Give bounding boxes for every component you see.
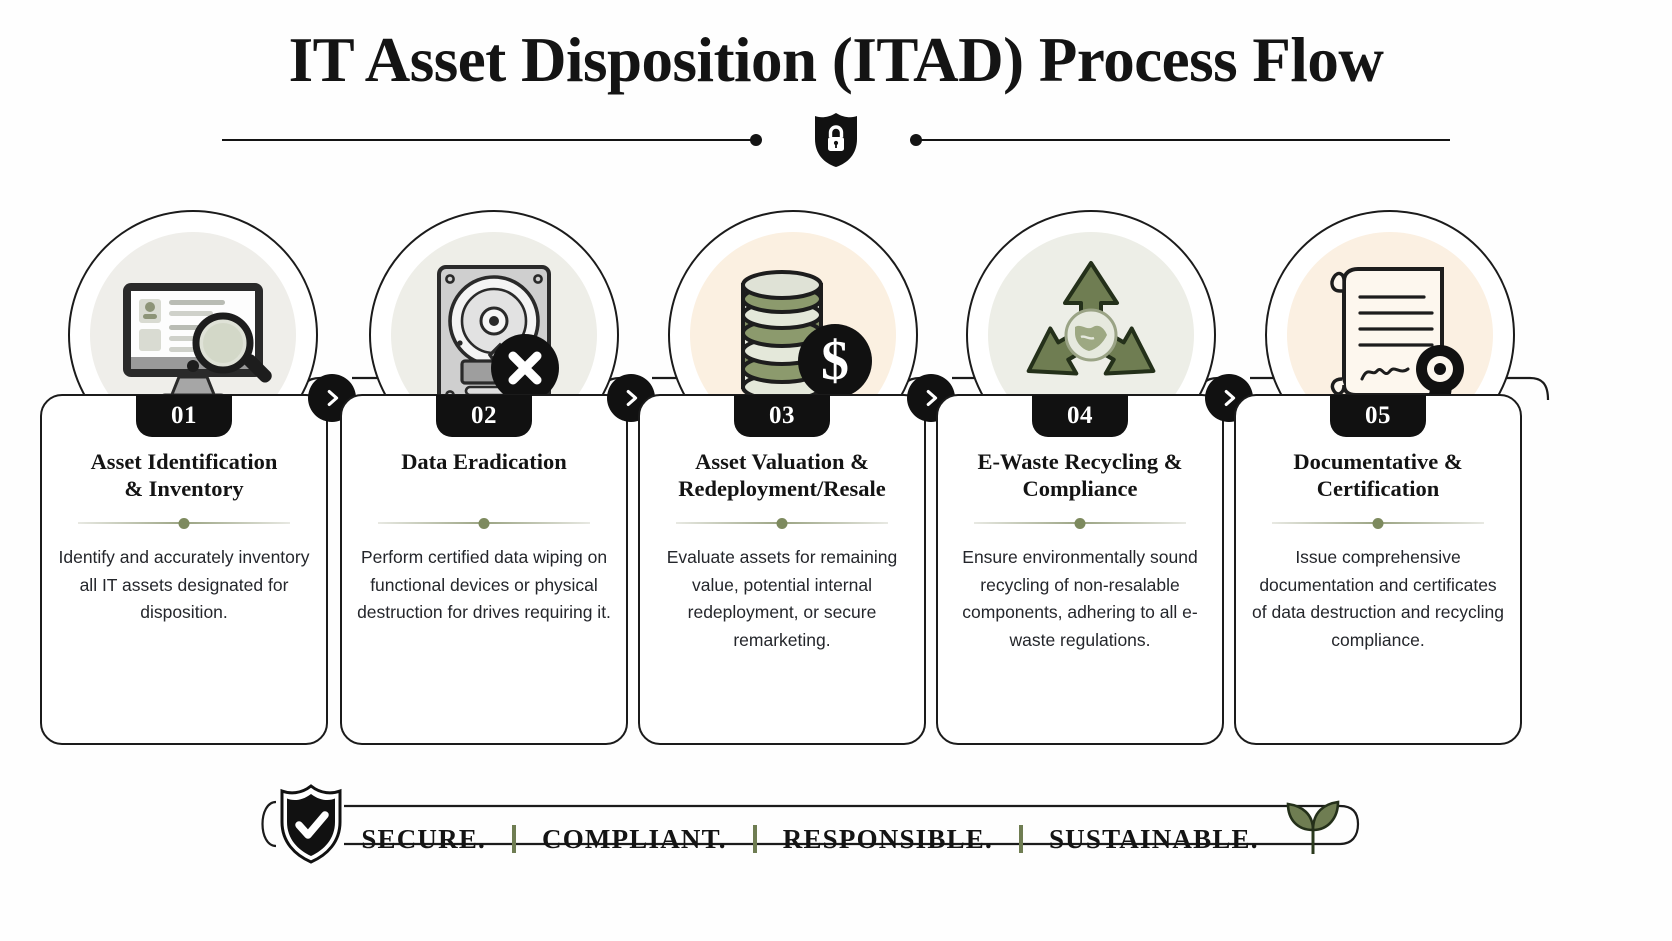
step-title-2: Data Eradication <box>356 448 612 504</box>
step-number-badge-1: 01 <box>136 395 232 437</box>
step-card-2[interactable]: 02 Data Eradication Perform certified da… <box>340 394 628 745</box>
tagline-secure: SECURE. <box>335 824 512 855</box>
shield-check-icon <box>278 784 344 864</box>
footer-banner: SECURE. COMPLIANT. RESPONSIBLE. SUSTAINA… <box>248 784 1368 864</box>
tagline-sustainable: SUSTAINABLE. <box>1023 824 1285 855</box>
step-divider-5 <box>1272 518 1484 528</box>
divider-dot-5 <box>1373 518 1384 529</box>
step-title-4: E-Waste Recycling & Compliance <box>952 448 1208 504</box>
step-divider-2 <box>378 518 590 528</box>
step-card-3[interactable]: 03 Asset Valuation & Redeployment/Resale… <box>638 394 926 745</box>
step-divider-1 <box>78 518 290 528</box>
divider-dot-1 <box>179 518 190 529</box>
step-title-line2-4: Compliance <box>1023 476 1138 501</box>
step-card-4[interactable]: 04 E-Waste Recycling & Compliance Ensure… <box>936 394 1224 745</box>
step-number-badge-3: 03 <box>734 395 830 437</box>
step-title-3: Asset Valuation & Redeployment/Resale <box>654 448 910 504</box>
step-description-3: Evaluate assets for remaining value, pot… <box>654 544 910 655</box>
step-description-4: Ensure environmentally sound recycling o… <box>952 544 1208 655</box>
step-card-5[interactable]: 05 Documentative & Certification Issue c… <box>1234 394 1522 745</box>
step-title-1: Asset Identification & Inventory <box>56 448 312 504</box>
divider-dot-2 <box>479 518 490 529</box>
divider-dot-4 <box>1075 518 1086 529</box>
tagline-row: SECURE. COMPLIANT. RESPONSIBLE. SUSTAINA… <box>360 814 1260 864</box>
step-title-line1-1: Asset Identification <box>91 449 278 474</box>
step-title-line2-5: Certification <box>1317 476 1439 501</box>
step-title-line2-3: Redeployment/Resale <box>678 476 885 501</box>
step-card-1[interactable]: 01 Asset Identification & Inventory Iden… <box>40 394 328 745</box>
step-number-badge-5: 05 <box>1330 395 1426 437</box>
step-title-line1-3: Asset Valuation & <box>695 449 869 474</box>
step-description-1: Identify and accurately inventory all IT… <box>56 544 312 627</box>
svg-text:$: $ <box>821 330 849 392</box>
step-title-line1-4: E-Waste Recycling & <box>978 449 1183 474</box>
infographic-canvas: IT Asset Disposition (ITAD) Process Flow <box>0 0 1672 941</box>
step-divider-4 <box>974 518 1186 528</box>
step-title-line1-2: Data Eradication <box>401 449 567 474</box>
step-divider-3 <box>676 518 888 528</box>
step-title-5: Documentative & Certification <box>1250 448 1506 504</box>
tagline-responsible: RESPONSIBLE. <box>757 824 1019 855</box>
leaf-icon <box>1282 798 1344 858</box>
step-number-badge-2: 02 <box>436 395 532 437</box>
step-description-2: Perform certified data wiping on functio… <box>356 544 612 627</box>
step-number-badge-4: 04 <box>1032 395 1128 437</box>
step-title-line1-5: Documentative & <box>1293 449 1462 474</box>
step-title-line2-1: & Inventory <box>124 476 243 501</box>
divider-dot-3 <box>777 518 788 529</box>
step-description-5: Issue comprehensive documentation and ce… <box>1250 544 1506 655</box>
tagline-compliant: COMPLIANT. <box>516 824 753 855</box>
